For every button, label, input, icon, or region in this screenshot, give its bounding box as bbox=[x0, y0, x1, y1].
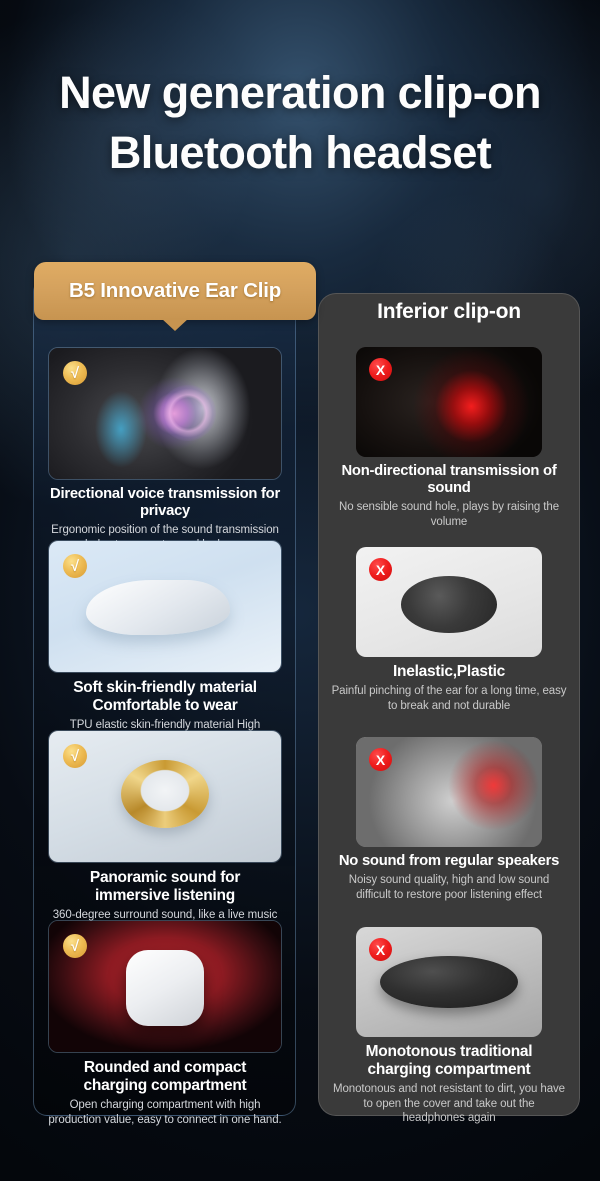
bad-item-3-title: No sound from regular speakers bbox=[331, 853, 567, 870]
good-item-3-title-line-1: Panoramic sound for bbox=[46, 869, 284, 887]
tab-inferior-clip-on[interactable]: Inferior clip-on bbox=[318, 300, 580, 324]
bad-item-4-title-line-2: charging compartment bbox=[331, 1061, 567, 1079]
good-item-4-image: √ bbox=[48, 920, 282, 1053]
bad-item-2-image: X bbox=[356, 547, 542, 657]
check-icon: √ bbox=[63, 744, 87, 768]
x-icon: X bbox=[369, 748, 392, 771]
bad-item-3: X No sound from regular speakers Noisy s… bbox=[325, 737, 573, 902]
good-item-4-caption: Rounded and compact charging compartment… bbox=[40, 1059, 290, 1127]
good-item-4: √ Rounded and compact charging compartme… bbox=[40, 920, 290, 1127]
bad-item-2: X Inelastic,Plastic Painful pinching of … bbox=[325, 547, 573, 713]
bad-item-2-caption: Inelastic,Plastic Painful pinching of th… bbox=[325, 663, 573, 713]
good-item-2-image: √ bbox=[48, 540, 282, 673]
bad-item-4: X Monotonous traditional charging compar… bbox=[325, 927, 573, 1126]
good-item-3: √ Panoramic sound for immersive listenin… bbox=[40, 730, 290, 937]
bad-item-1-title: Non-directional transmission of sound bbox=[331, 463, 567, 497]
check-icon: √ bbox=[63, 554, 87, 578]
good-item-4-title-line-1: Rounded and compact bbox=[46, 1059, 284, 1077]
bad-item-1-subtitle: No sensible sound hole, plays by raising… bbox=[331, 500, 567, 529]
bad-item-4-subtitle: Monotonous and not resistant to dirt, yo… bbox=[331, 1082, 567, 1126]
page-title: New generation clip-on Bluetooth headset bbox=[0, 63, 600, 183]
bad-item-1: X Non-directional transmission of sound … bbox=[325, 347, 573, 530]
infographic-page: New generation clip-on Bluetooth headset… bbox=[0, 0, 600, 1181]
tab-b5-innovative-ear-clip[interactable]: B5 Innovative Ear Clip bbox=[34, 262, 316, 320]
good-item-1: √ Directional voice transmission for pri… bbox=[40, 347, 290, 553]
bad-item-1-image: X bbox=[356, 347, 542, 457]
x-icon: X bbox=[369, 358, 392, 381]
tab-pointer-notch bbox=[161, 318, 189, 331]
x-icon: X bbox=[369, 558, 392, 581]
bad-item-3-subtitle: Noisy sound quality, high and low sound … bbox=[331, 873, 567, 902]
tab-b5-label: B5 Innovative Ear Clip bbox=[69, 279, 281, 303]
good-item-3-title-line-2: immersive listening bbox=[46, 887, 284, 905]
bad-item-2-title: Inelastic,Plastic bbox=[331, 663, 567, 681]
x-icon: X bbox=[369, 938, 392, 961]
bad-item-4-caption: Monotonous traditional charging compartm… bbox=[325, 1043, 573, 1126]
good-item-1-image: √ bbox=[48, 347, 282, 480]
bad-item-4-image: X bbox=[356, 927, 542, 1037]
bad-item-1-caption: Non-directional transmission of sound No… bbox=[325, 463, 573, 530]
bad-item-3-caption: No sound from regular speakers Noisy sou… bbox=[325, 853, 573, 902]
bad-item-2-subtitle: Painful pinching of the ear for a long t… bbox=[331, 684, 567, 713]
page-title-line-1: New generation clip-on bbox=[0, 63, 600, 123]
tab-inferior-label: Inferior clip-on bbox=[377, 300, 521, 323]
good-item-4-subtitle: Open charging compartment with high prod… bbox=[46, 1098, 284, 1127]
check-icon: √ bbox=[63, 361, 87, 385]
good-item-1-title: Directional voice transmission for priva… bbox=[46, 486, 284, 520]
good-item-2: √ Soft skin-friendly material Comfortabl… bbox=[40, 540, 290, 747]
bad-item-3-image: X bbox=[356, 737, 542, 847]
check-icon: √ bbox=[63, 934, 87, 958]
good-item-4-title-line-2: charging compartment bbox=[46, 1077, 284, 1095]
bad-item-4-title-line-1: Monotonous traditional bbox=[331, 1043, 567, 1061]
good-item-2-title-line-2: Comfortable to wear bbox=[46, 697, 284, 715]
good-item-2-title-line-1: Soft skin-friendly material bbox=[46, 679, 284, 697]
good-item-3-image: √ bbox=[48, 730, 282, 863]
page-title-line-2: Bluetooth headset bbox=[0, 123, 600, 183]
